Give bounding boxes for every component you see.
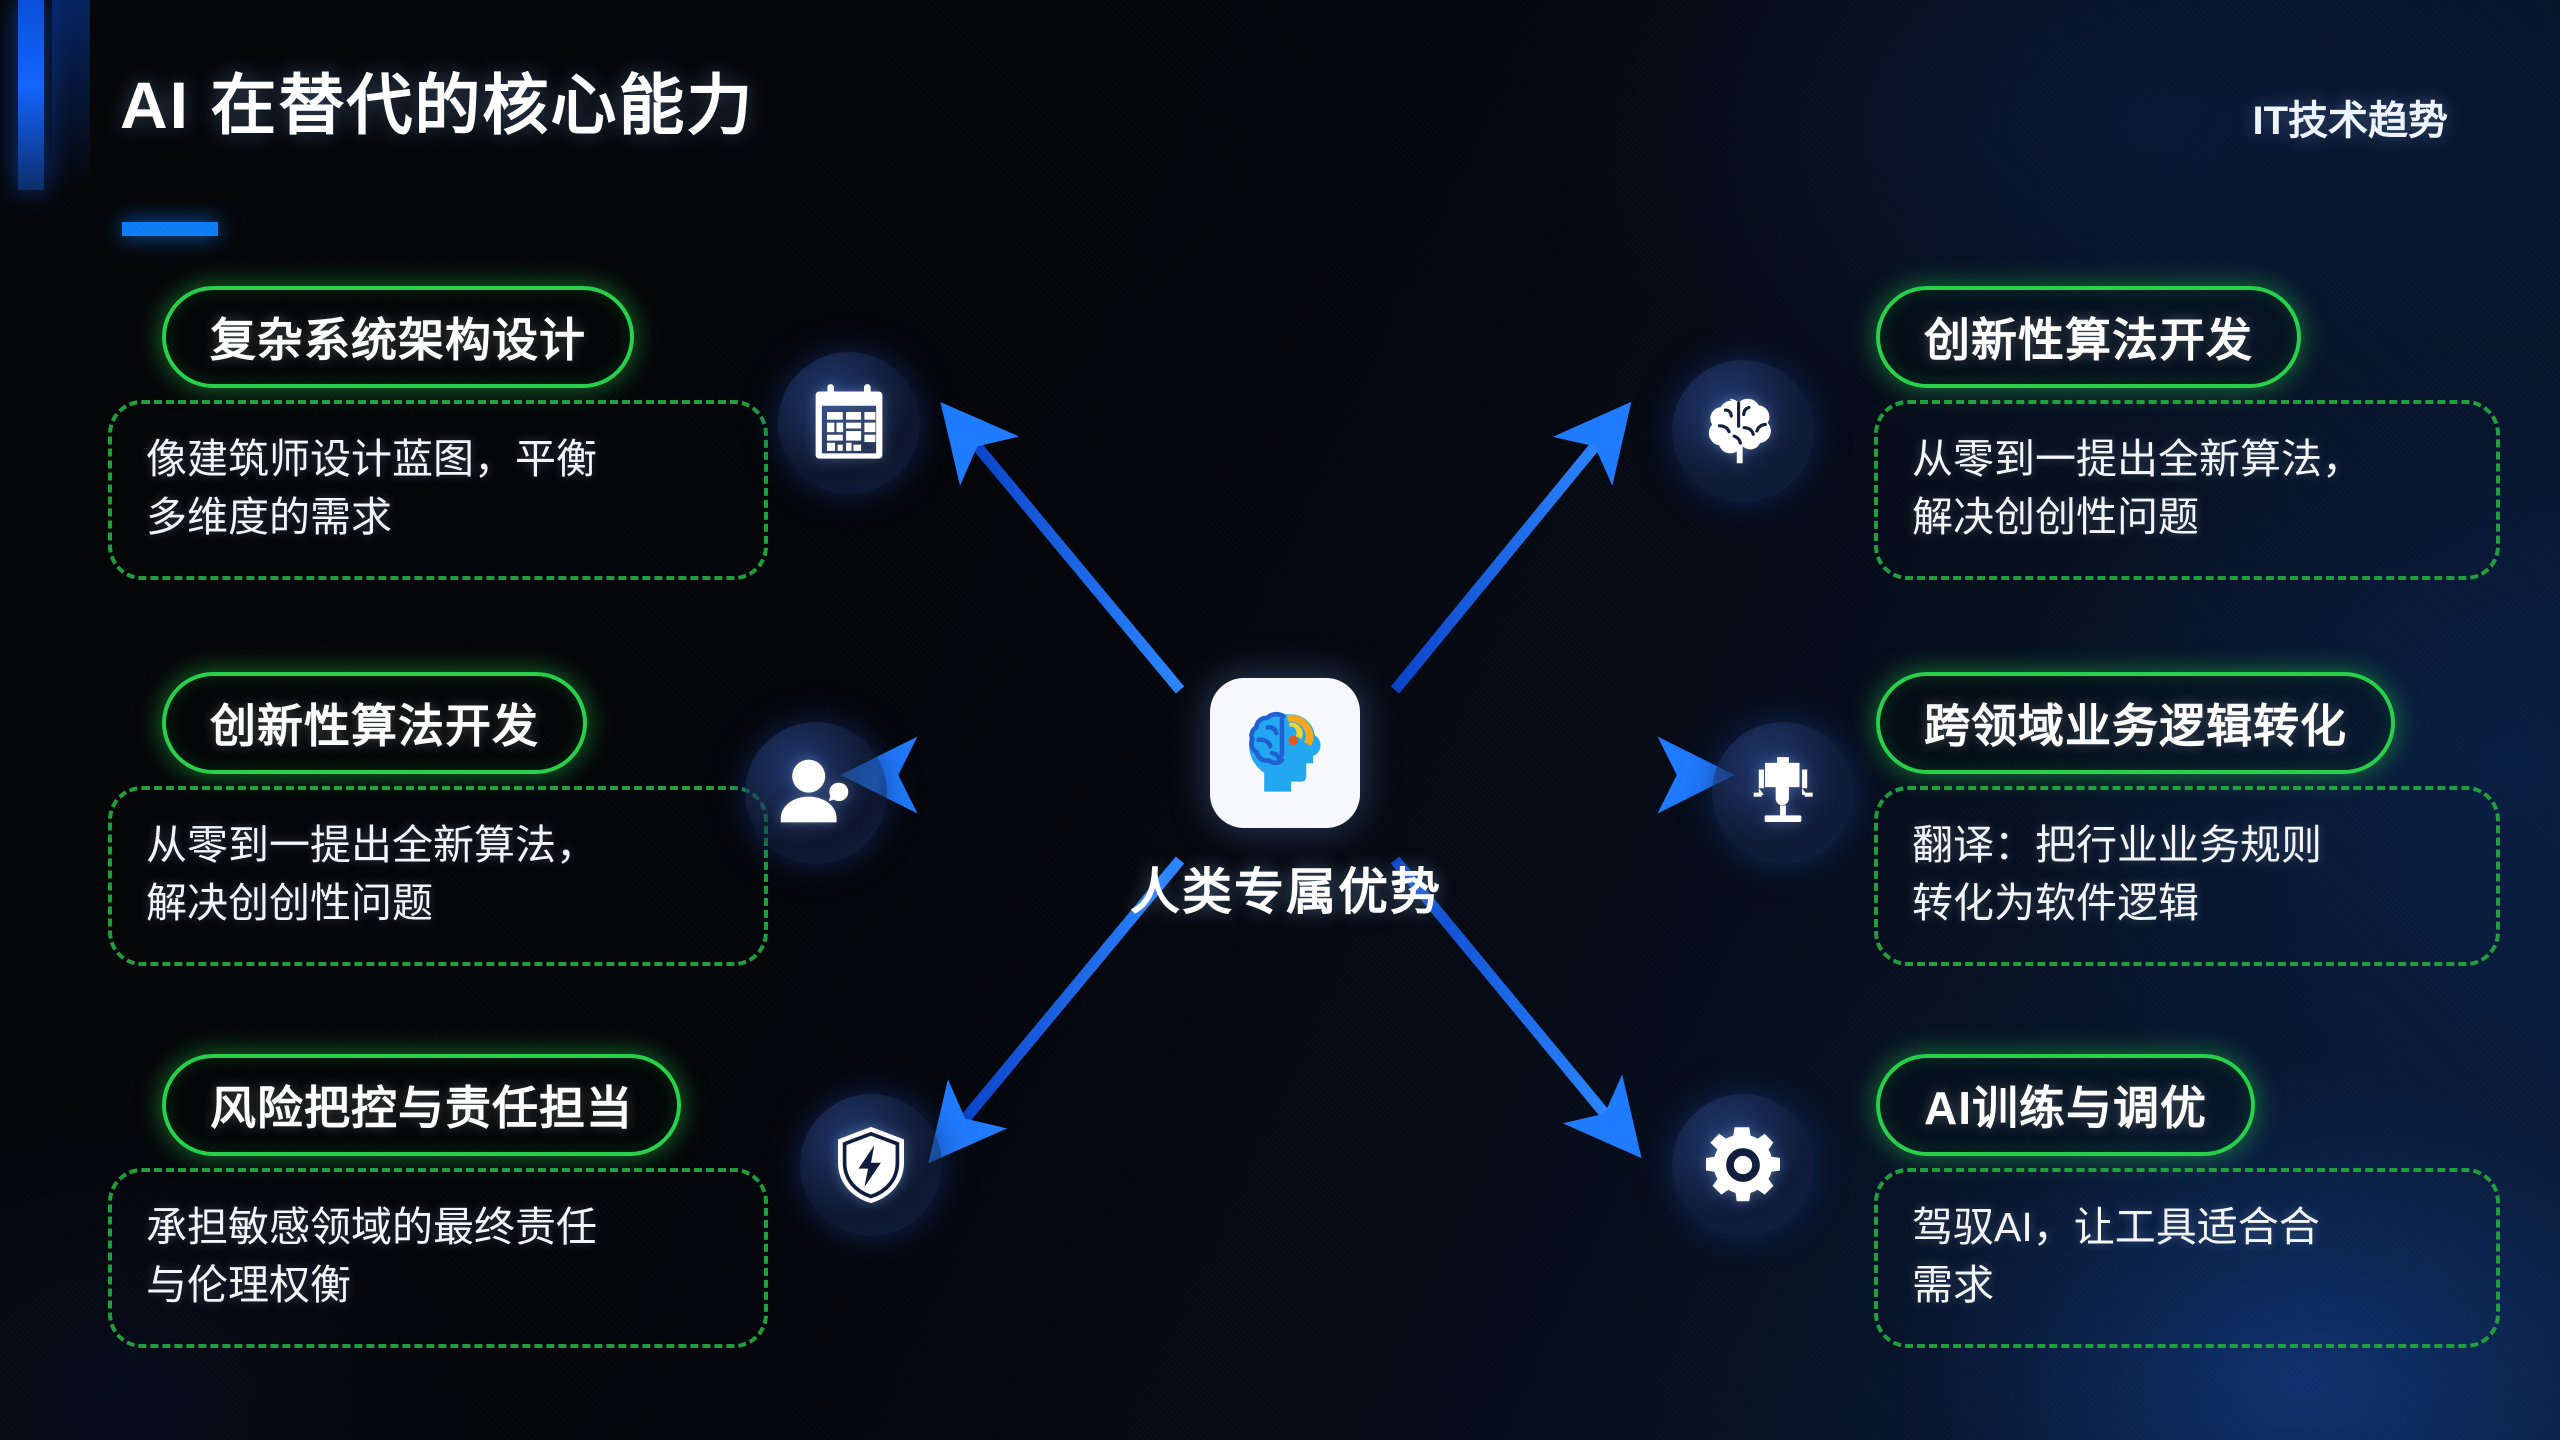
capability-title: 创新性算法开发 [1876, 286, 2301, 388]
desc-line: 解决创创性问题 [146, 874, 730, 932]
desc-line: 承担敏感领域的最终责任 [146, 1198, 730, 1256]
desc-line: 像建筑师设计蓝图，平衡 [146, 430, 730, 488]
gear-icon[interactable] [1672, 1094, 1814, 1236]
user-idea-icon[interactable] [745, 722, 887, 864]
center-node[interactable] [1210, 678, 1360, 828]
gear-icon-glyph [1699, 1121, 1787, 1209]
desc-line: 从零到一提出全新算法， [146, 816, 730, 874]
brain-head-icon [1233, 701, 1337, 805]
user-idea-icon-glyph [772, 749, 860, 837]
capability-card-left-3[interactable]: 风险把控与责任担当 承担敏感领域的最终责任 与伦理权衡 [108, 1054, 768, 1348]
desc-line: 翻译：把行业业务规则 [1912, 816, 2462, 874]
capability-description: 从零到一提出全新算法， 解决创创性问题 [108, 786, 768, 966]
brain-icon-glyph [1699, 387, 1787, 475]
desc-line: 需求 [1912, 1256, 2462, 1314]
capability-title: 复杂系统架构设计 [162, 286, 634, 388]
center-node-label: 人类专属优势 [1100, 852, 1472, 924]
microphone-translate-icon-glyph [1739, 749, 1827, 837]
slide-canvas: AI 在替代的核心能力 IT技术趋势 复杂系统架构设计 像建筑师设计蓝图，平 [0, 0, 2560, 1440]
capability-title: 创新性算法开发 [162, 672, 587, 774]
desc-line: 多维度的需求 [146, 488, 730, 546]
capability-title: 跨领域业务逻辑转化 [1876, 672, 2395, 774]
capability-card-left-2[interactable]: 创新性算法开发 从零到一提出全新算法， 解决创创性问题 [108, 672, 768, 966]
shield-bolt-icon-glyph [827, 1121, 915, 1209]
capability-card-right-2[interactable]: 跨领域业务逻辑转化 翻译：把行业业务规则 转化为软件逻辑 [1840, 672, 2500, 966]
calendar-grid-icon-glyph [805, 379, 893, 467]
capability-card-right-1[interactable]: 创新性算法开发 从零到一提出全新算法， 解决创创性问题 [1840, 286, 2500, 580]
arrow-up-left [972, 440, 1180, 690]
desc-line: 转化为软件逻辑 [1912, 874, 2462, 932]
brain-icon[interactable] [1672, 360, 1814, 502]
capability-description: 承担敏感领域的最终责任 与伦理权衡 [108, 1168, 768, 1348]
arrow-up-right [1395, 440, 1600, 690]
capability-title: AI训练与调优 [1876, 1054, 2255, 1156]
capability-card-left-1[interactable]: 复杂系统架构设计 像建筑师设计蓝图，平衡 多维度的需求 [108, 286, 768, 580]
calendar-grid-icon[interactable] [778, 352, 920, 494]
capability-title: 风险把控与责任担当 [162, 1054, 681, 1156]
capability-card-right-3[interactable]: AI训练与调优 驾驭AI，让工具适合合 需求 [1840, 1054, 2500, 1348]
capability-description: 翻译：把行业业务规则 转化为软件逻辑 [1874, 786, 2500, 966]
desc-line: 与伦理权衡 [146, 1256, 730, 1314]
desc-line: 从零到一提出全新算法， [1912, 430, 2462, 488]
desc-line: 驾驭AI，让工具适合合 [1912, 1198, 2462, 1256]
capability-description: 驾驭AI，让工具适合合 需求 [1874, 1168, 2500, 1348]
microphone-translate-icon[interactable] [1712, 722, 1854, 864]
shield-bolt-icon[interactable] [800, 1094, 942, 1236]
desc-line: 解决创创性问题 [1912, 488, 2462, 546]
capability-description: 像建筑师设计蓝图，平衡 多维度的需求 [108, 400, 768, 580]
capability-description: 从零到一提出全新算法， 解决创创性问题 [1874, 400, 2500, 580]
